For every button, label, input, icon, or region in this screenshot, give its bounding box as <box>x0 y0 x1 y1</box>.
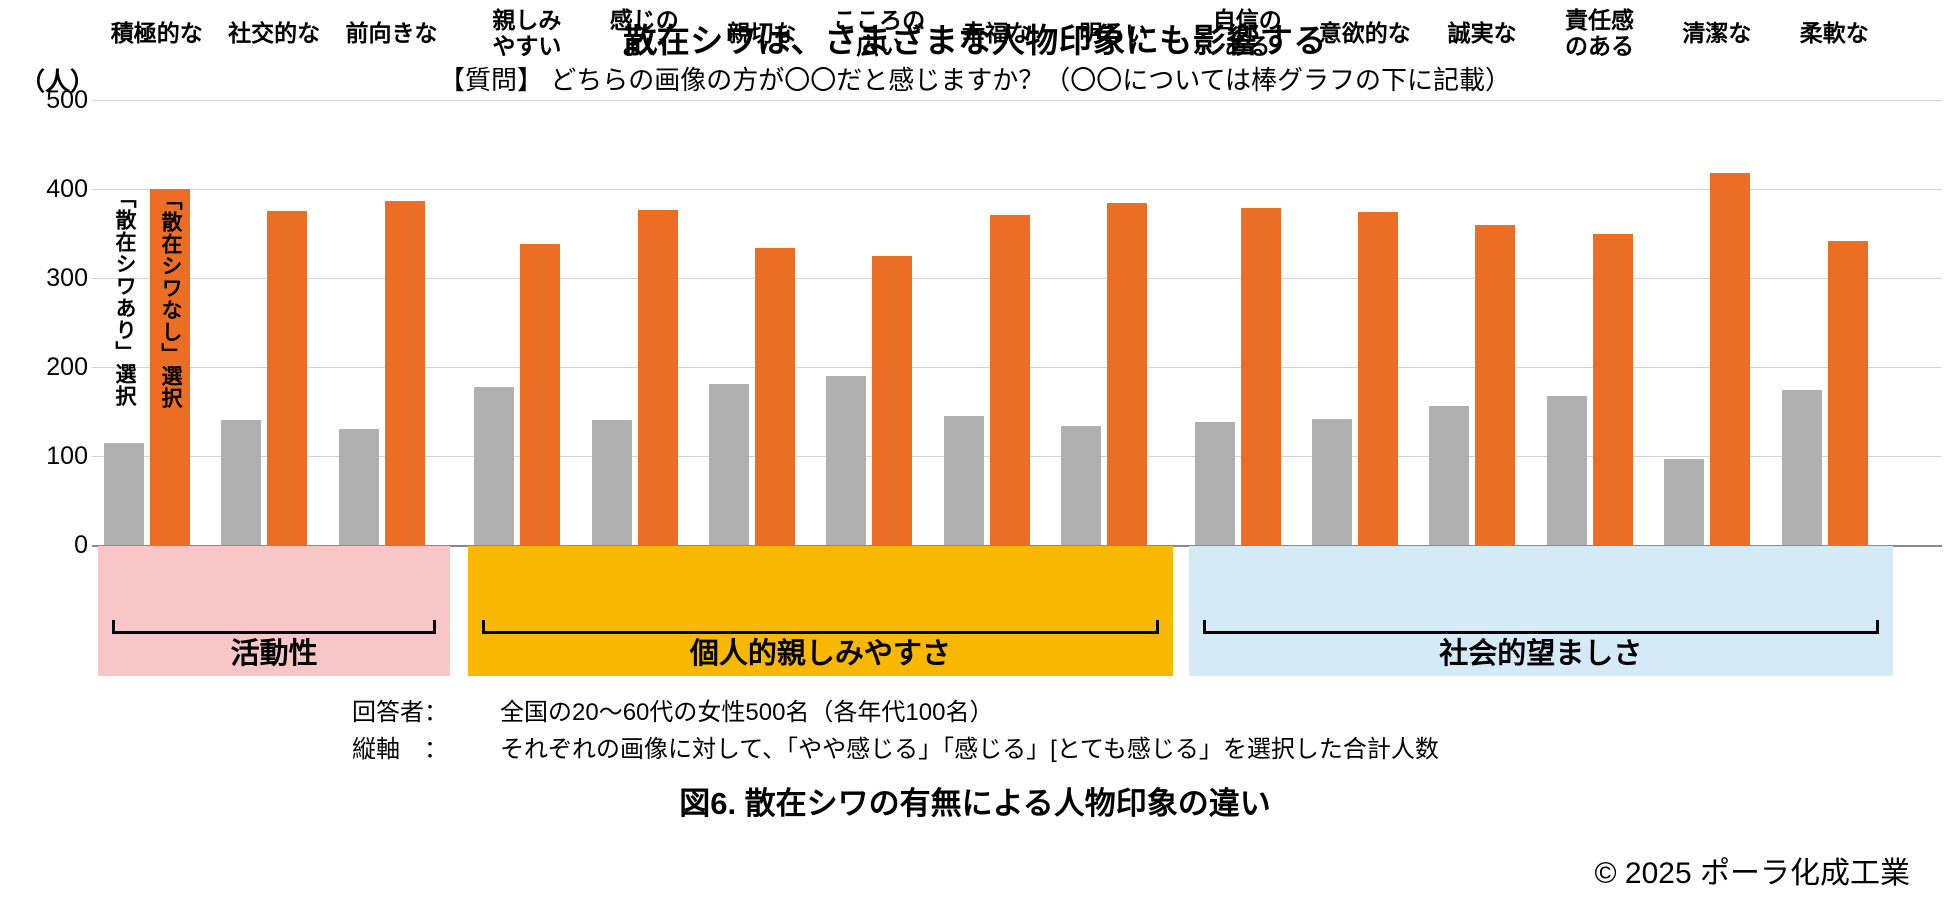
bar-gray-0[interactable] <box>104 443 144 545</box>
category-band-1 <box>468 546 1172 614</box>
bar-orange-6[interactable] <box>872 256 912 545</box>
figure-caption: 図6. 散在シワの有無による人物印象の違い <box>0 778 1950 823</box>
category-label-5: 親切な <box>703 0 820 68</box>
footnote-2-text: それぞれの画像に対して、「やや感じる」「感じる」[とても感じる」を選択した合計人… <box>500 729 1439 764</box>
legend-label-orange: 「散在シワなし」選択 <box>150 189 190 459</box>
bar-orange-13[interactable] <box>1710 173 1750 545</box>
category-band-2 <box>1189 546 1893 614</box>
category-label-10: 意欲的な <box>1306 0 1423 68</box>
y-tick-label-300: 300 <box>18 264 88 293</box>
category-label-7: 幸福な <box>938 0 1055 68</box>
bar-gray-10[interactable] <box>1312 419 1352 545</box>
y-axis: 0100200300400500 <box>0 100 88 545</box>
group-band-1: 個人的親しみやすさ <box>468 614 1172 676</box>
y-tick-label-100: 100 <box>18 442 88 471</box>
bar-orange-4[interactable] <box>638 210 678 545</box>
bar-gray-1[interactable] <box>221 420 261 545</box>
group-title-0: 活動性 <box>98 630 450 672</box>
bar-gray-8[interactable] <box>1061 426 1101 545</box>
y-tick-label-200: 200 <box>18 353 88 382</box>
category-label-11: 誠実な <box>1423 0 1540 68</box>
bar-orange-12[interactable] <box>1593 234 1633 545</box>
category-label-9: 自信のある <box>1189 0 1306 68</box>
footnote-1-label: 回答者： <box>352 692 448 727</box>
group-title-1: 個人的親しみやすさ <box>468 630 1172 672</box>
category-label-0: 積極的な <box>98 0 215 68</box>
bar-orange-10[interactable] <box>1358 212 1398 545</box>
bar-orange-3[interactable] <box>520 244 560 545</box>
category-label-1: 社交的な <box>215 0 332 68</box>
bar-gray-6[interactable] <box>826 376 866 545</box>
figure-root: 散在シワは、さまざまな人物印象にも影響する 【質問】 どちらの画像の方が〇〇だと… <box>0 0 1950 902</box>
bar-orange-9[interactable] <box>1241 208 1281 545</box>
category-label-8: 明るい <box>1055 0 1172 68</box>
group-band-2: 社会的望ましさ <box>1189 614 1893 676</box>
bar-orange-11[interactable] <box>1475 225 1515 545</box>
bar-gray-11[interactable] <box>1429 406 1469 545</box>
y-tick-label-0: 0 <box>18 531 88 560</box>
bar-orange-14[interactable] <box>1828 241 1868 545</box>
bar-orange-8[interactable] <box>1107 203 1147 545</box>
y-tick-label-400: 400 <box>18 175 88 204</box>
bar-orange-2[interactable] <box>385 201 425 545</box>
bar-orange-5[interactable] <box>755 248 795 545</box>
category-label-14: 柔軟な <box>1776 0 1893 68</box>
bar-gray-9[interactable] <box>1195 422 1235 545</box>
bar-gray-4[interactable] <box>592 420 632 545</box>
footnote-1-text: 全国の20〜60代の女性500名（各年代100名） <box>500 692 993 727</box>
legend-label-gray: 「散在シワあり」選択 <box>104 187 144 457</box>
bar-orange-7[interactable] <box>990 215 1030 545</box>
category-label-12: 責任感のある <box>1541 0 1658 68</box>
group-band-0: 活動性 <box>98 614 450 676</box>
bar-gray-5[interactable] <box>709 384 749 545</box>
bar-gray-13[interactable] <box>1664 459 1704 545</box>
group-title-2: 社会的望ましさ <box>1189 630 1893 672</box>
bar-gray-3[interactable] <box>474 387 514 545</box>
footnote-2-label: 縦軸 ： <box>352 729 448 764</box>
y-tick-label-500: 500 <box>18 86 88 115</box>
bar-gray-7[interactable] <box>944 416 984 545</box>
category-label-3: 親しみやすい <box>468 0 585 68</box>
bar-series-container: 「散在シワあり」選択「散在シワなし」選択 <box>92 100 1942 545</box>
category-label-4: 感じのよい <box>586 0 703 68</box>
bar-gray-2[interactable] <box>339 429 379 545</box>
bar-orange-1[interactable] <box>267 211 307 545</box>
category-label-13: 清潔な <box>1658 0 1775 68</box>
bar-gray-12[interactable] <box>1547 396 1587 545</box>
category-label-6: こころの広い <box>820 0 937 68</box>
bar-gray-14[interactable] <box>1782 390 1822 545</box>
plot-area: 「散在シワあり」選択「散在シワなし」選択 <box>92 100 1942 545</box>
category-band-0 <box>98 546 450 614</box>
copyright-notice: © 2025 ポーラ化成工業 <box>1594 848 1910 892</box>
category-label-2: 前向きな <box>333 0 450 68</box>
